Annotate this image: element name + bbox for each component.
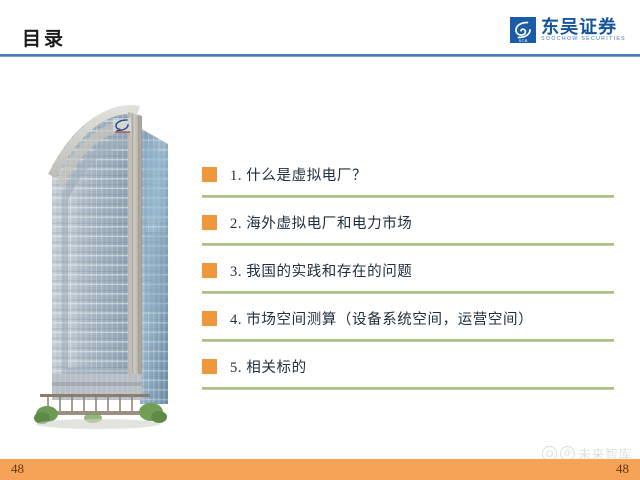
brand-mark-caption: SCB bbox=[510, 38, 536, 43]
brand-text: 东吴证券 SOOCHOW SECURITIES bbox=[541, 18, 626, 42]
page-number-right: 48 bbox=[616, 461, 629, 477]
soochow-securities-mark-icon: SCB bbox=[510, 17, 536, 43]
table-of-contents: 1. 什么是虚拟电厂？ 2. 海外虚拟电厂和电力市场 3. 我国的实践和存在的问… bbox=[202, 150, 614, 390]
bullet-square-icon bbox=[202, 263, 217, 278]
bullet-square-icon bbox=[202, 167, 217, 182]
toc-item-label: 2. 海外虚拟电厂和电力市场 bbox=[230, 212, 412, 233]
page-title: 目录 bbox=[22, 24, 66, 51]
toc-item-5[interactable]: 5. 相关标的 bbox=[202, 342, 614, 390]
toc-item-3[interactable]: 3. 我国的实践和存在的问题 bbox=[202, 246, 614, 294]
brand-logo: SCB 东吴证券 SOOCHOW SECURITIES bbox=[510, 17, 626, 43]
toc-item-label: 4. 市场空间测算（设备系统空间，运营空间） bbox=[230, 308, 533, 329]
page-number-left: 48 bbox=[11, 461, 24, 477]
toc-item-label: 3. 我国的实践和存在的问题 bbox=[230, 260, 412, 281]
header-divider bbox=[0, 54, 640, 57]
brand-name-en: SOOCHOW SECURITIES bbox=[541, 37, 626, 42]
toc-item-4[interactable]: 4. 市场空间测算（设备系统空间，运营空间） bbox=[202, 294, 614, 342]
toc-item-label: 5. 相关标的 bbox=[230, 356, 307, 377]
office-tower-photo bbox=[18, 82, 208, 442]
bullet-square-icon bbox=[202, 359, 217, 374]
bullet-square-icon bbox=[202, 311, 217, 326]
slide-header: 目录 SCB 东吴证券 SOOCHOW SECURITIES bbox=[0, 0, 640, 56]
bullet-square-icon bbox=[202, 215, 217, 230]
toc-item-2[interactable]: 2. 海外虚拟电厂和电力市场 bbox=[202, 198, 614, 246]
toc-item-1[interactable]: 1. 什么是虚拟电厂？ bbox=[202, 150, 614, 198]
toc-divider bbox=[202, 387, 614, 390]
footer-bar bbox=[0, 459, 640, 480]
brand-name-cn: 东吴证券 bbox=[541, 18, 626, 36]
toc-item-label: 1. 什么是虚拟电厂？ bbox=[230, 164, 367, 185]
